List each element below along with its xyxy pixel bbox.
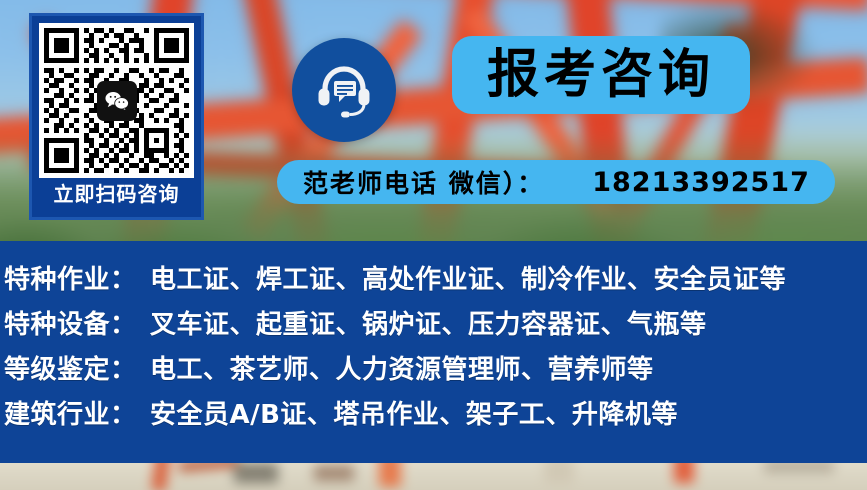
- wechat-logo-icon: [97, 81, 137, 121]
- contact-phone-number[interactable]: 18213392517: [592, 167, 810, 198]
- ground-object: [151, 463, 170, 490]
- contact-pill[interactable]: 范老师电话 微信）： 18213392517: [277, 160, 835, 204]
- ground-object: [544, 463, 574, 483]
- qr-caption: 立即扫码咨询: [54, 183, 180, 205]
- list-item: 建筑行业： 安全员A/B证、塔吊作业、架子工、升降机等: [0, 394, 867, 439]
- list-item: 特种设备： 叉车证、起重证、锅炉证、压力容器证、气瓶等: [0, 304, 867, 349]
- list-item: 特种作业： 电工证、焊工证、高处作业证、制冷作业、安全员证等: [0, 259, 867, 304]
- wechat-glyph-icon: [104, 91, 130, 111]
- category-value: 叉车证、起重证、锅炉证、压力容器证、气瓶等: [150, 304, 707, 341]
- category-value: 电工、茶艺师、人力资源管理师、营养师等: [150, 349, 654, 386]
- qr-code-image[interactable]: [39, 23, 194, 178]
- list-item: 等级鉴定： 电工、茶艺师、人力资源管理师、营养师等: [0, 349, 867, 394]
- category-value: 电工证、焊工证、高处作业证、制冷作业、安全员证等: [150, 259, 786, 296]
- ground-object: [379, 463, 401, 487]
- category-value: 安全员A/B证、塔吊作业、架子工、升降机等: [150, 394, 678, 431]
- category-label: 特种设备：: [4, 304, 150, 341]
- consultation-title-label: 报考咨询: [487, 49, 715, 101]
- category-label: 建筑行业：: [4, 394, 150, 431]
- bottom-blurred-ground: [0, 463, 867, 490]
- category-label: 等级鉴定：: [4, 349, 150, 386]
- qr-code-card[interactable]: 立即扫码咨询: [29, 13, 204, 220]
- certificate-category-panel: 特种作业： 电工证、焊工证、高处作业证、制冷作业、安全员证等 特种设备： 叉车证…: [0, 241, 867, 463]
- ground-object: [764, 463, 834, 473]
- bottom-photo-strip: [0, 463, 867, 490]
- category-label: 特种作业：: [4, 259, 150, 296]
- consultation-title-pill[interactable]: 报考咨询: [452, 36, 750, 114]
- contact-label: 范老师电话 微信）：: [303, 164, 544, 200]
- headset-glyph-icon: [312, 58, 376, 122]
- ground-object: [234, 463, 278, 483]
- promo-poster: 立即扫码咨询 报考咨询 范老师电话 微信）： 18213392517: [0, 0, 867, 490]
- ground-object: [674, 463, 694, 483]
- headset-support-icon: [292, 38, 396, 142]
- ground-object: [179, 463, 240, 472]
- ground-object: [314, 465, 354, 481]
